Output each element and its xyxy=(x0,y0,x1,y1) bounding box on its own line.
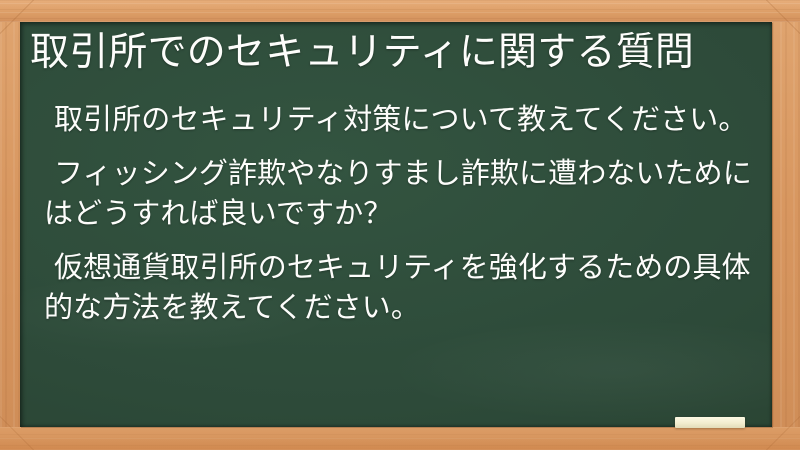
wood-frame-bottom-ledge xyxy=(0,427,800,450)
question-list: 取引所のセキュリティ対策について教えてください。 フィッシング詐欺やなりすまし詐… xyxy=(44,100,758,342)
chalkboard-surface: 取引所でのセキュリティに関する質問 取引所のセキュリティ対策について教えてくださ… xyxy=(20,22,772,427)
chalk-stick xyxy=(675,417,745,428)
board-title: 取引所でのセキュリティに関する質問 xyxy=(30,28,762,78)
question-item: 仮想通貨取引所のセキュリティを強化するための具体的な方法を教えてください。 xyxy=(44,248,758,328)
blackboard-scene: 取引所でのセキュリティに関する質問 取引所のセキュリティ対策について教えてくださ… xyxy=(0,0,800,450)
question-item: 取引所のセキュリティ対策について教えてください。 xyxy=(44,100,758,140)
question-item: フィッシング詐欺やなりすまし詐欺に遭わないためにはどうすれば良いですか？ xyxy=(44,154,758,234)
wood-frame-top-rail xyxy=(0,0,800,22)
